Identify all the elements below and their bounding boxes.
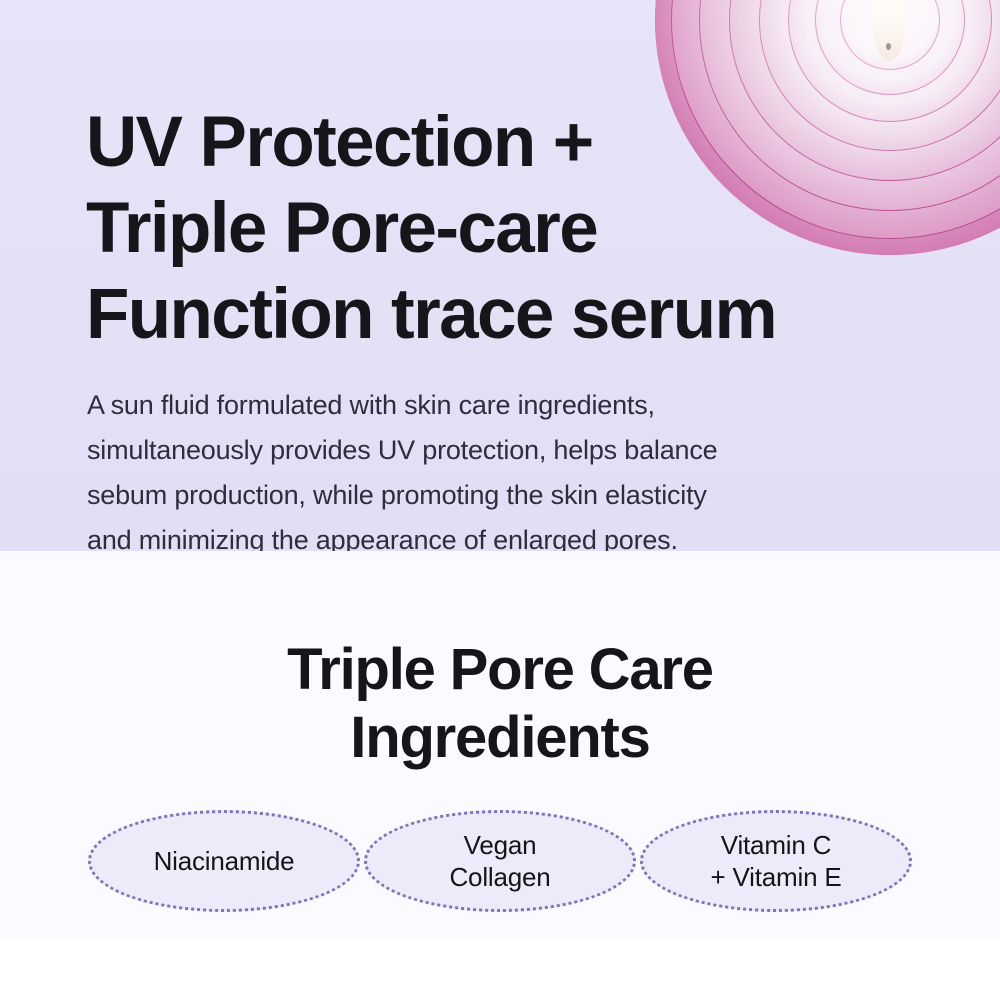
ingredient-label: Vitamin C — [711, 829, 842, 861]
hero-title-line-1: UV Protection + — [86, 100, 906, 186]
hero-section: UV Protection + Triple Pore-care Functio… — [0, 0, 1000, 551]
ingredients-title-line-1: Triple Pore Care — [0, 636, 1000, 704]
hero-title-line-2: Triple Pore-care — [86, 186, 906, 272]
hero-title-line-3: Function trace serum — [86, 272, 906, 358]
hero-title: UV Protection + Triple Pore-care Functio… — [86, 100, 906, 358]
hero-description-line-4: and minimizing the appearance of enlarge… — [87, 518, 937, 551]
hero-description-line-1: A sun fluid formulated with skin care in… — [87, 383, 937, 428]
onion-core-seed — [886, 43, 891, 50]
ingredient-bubble-vegan-collagen: Vegan Collagen — [364, 810, 636, 912]
ingredients-section-title: Triple Pore Care Ingredients — [0, 636, 1000, 772]
product-detail-page: UV Protection + Triple Pore-care Functio… — [0, 0, 1000, 1000]
ingredient-bubble-vitamin-c-e: Vitamin C + Vitamin E — [640, 810, 912, 912]
hero-description-line-2: simultaneously provides UV protection, h… — [87, 428, 937, 473]
ingredient-label-second: + Vitamin E — [711, 861, 842, 893]
ingredient-bubble-niacinamide: Niacinamide — [88, 810, 360, 912]
hero-description-line-3: sebum production, while promoting the sk… — [87, 473, 937, 518]
ingredient-label: Niacinamide — [154, 845, 295, 877]
ingredient-label-second: Collagen — [449, 861, 550, 893]
page-footer-space — [0, 940, 1000, 1000]
ingredients-title-line-2: Ingredients — [0, 704, 1000, 772]
hero-description: A sun fluid formulated with skin care in… — [87, 383, 937, 551]
ingredient-label: Vegan — [449, 829, 550, 861]
ingredient-bubble-group: Niacinamide Vegan Collagen Vitamin C + V… — [0, 810, 1000, 914]
